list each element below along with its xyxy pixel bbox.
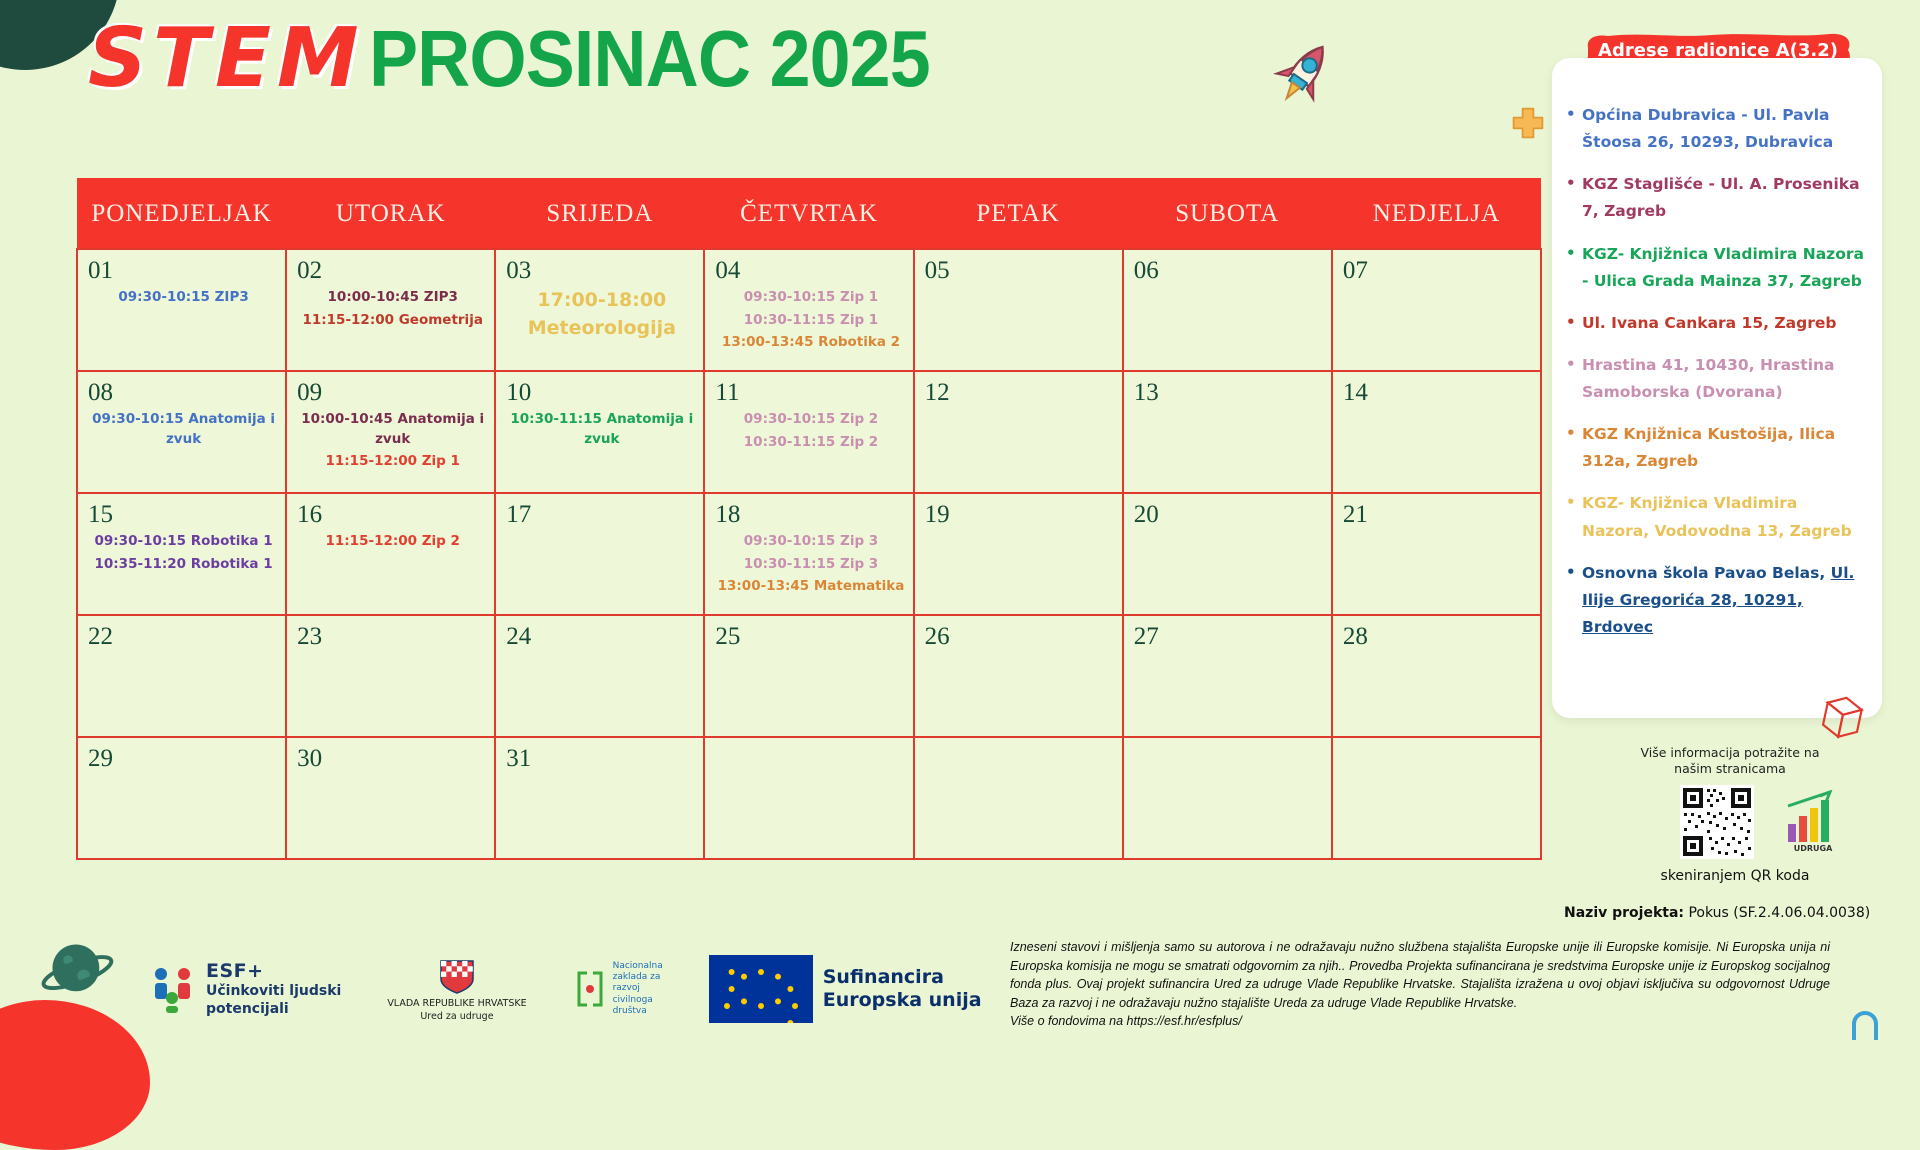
calendar-table: PONEDJELJAK UTORAK SRIJEDA ČETVRTAK PETA… xyxy=(76,178,1542,860)
address-item-text: KGZ- Knjižnica Vladimira Nazora, Vodovod… xyxy=(1582,494,1852,539)
more-info-line1: Više informacija potražite na xyxy=(1620,745,1840,761)
day-number: 03 xyxy=(506,258,697,284)
project-name-label: Naziv projekta: xyxy=(1564,905,1684,921)
address-panel: Općina Dubravica - Ul. Pavla Štoosa 26, … xyxy=(1552,58,1882,718)
day-events: 09:30-10:15 Robotika 110:35-11:20 Roboti… xyxy=(88,532,279,574)
calendar-week-row: 0809:30-10:15 Anatomija i zvuk0910:00-10… xyxy=(77,371,1541,493)
calendar-week-row: 1509:30-10:15 Robotika 110:35-11:20 Robo… xyxy=(77,493,1541,615)
vlada-caption: VLADA REPUBLIKE HRVATSKE Ured za udruge xyxy=(387,998,526,1023)
calendar-day-cell-11[interactable]: 1109:30-10:15 Zip 210:30-11:15 Zip 2 xyxy=(704,371,913,493)
day-number: 09 xyxy=(297,380,488,406)
day-number: 08 xyxy=(88,380,279,406)
weekday-header-thu: ČETVRTAK xyxy=(704,178,913,249)
address-list: Općina Dubravica - Ul. Pavla Štoosa 26, … xyxy=(1566,102,1864,641)
calendar-day-cell-empty[interactable] xyxy=(1332,737,1541,859)
event-entry[interactable]: 09:30-10:15 Zip 3 xyxy=(715,532,906,552)
address-list-item[interactable]: KGZ Staglišće - Ul. A. Prosenika 7, Zagr… xyxy=(1566,171,1864,225)
calendar-day-cell-03[interactable]: 0317:00-18:00Meteorologija xyxy=(495,249,704,371)
calendar-day-cell-02[interactable]: 0210:00-10:45 ZIP311:15-12:00 Geometrija xyxy=(286,249,495,371)
calendar-week-row: 22232425262728 xyxy=(77,615,1541,737)
rocket-icon xyxy=(1265,32,1345,112)
day-number: 01 xyxy=(88,258,279,284)
event-entry[interactable]: 10:00-10:45 Anatomija i zvuk xyxy=(297,410,488,449)
address-item-text: Hrastina 41, 10430, Hrastina Samoborska … xyxy=(1582,356,1835,401)
day-events: 10:00-10:45 ZIP311:15-12:00 Geometrija xyxy=(297,288,488,330)
day-number: 29 xyxy=(88,746,279,772)
logo-vlada-rh: VLADA REPUBLIKE HRVATSKE Ured za udruge xyxy=(387,955,526,1023)
day-number: 05 xyxy=(925,258,1116,284)
event-entry[interactable]: 09:30-10:15 Robotika 1 xyxy=(88,532,279,552)
address-list-item[interactable]: Općina Dubravica - Ul. Pavla Štoosa 26, … xyxy=(1566,102,1864,156)
calendar-header-row: PONEDJELJAK UTORAK SRIJEDA ČETVRTAK PETA… xyxy=(77,178,1541,249)
event-entry[interactable]: 10:30-11:15 Anatomija i zvuk xyxy=(506,410,697,449)
nzcd-line5: društva xyxy=(613,1006,663,1017)
calendar-day-cell-06[interactable]: 06 xyxy=(1123,249,1332,371)
calendar-body: 0109:30-10:15 ZIP30210:00-10:45 ZIP311:1… xyxy=(77,249,1541,859)
nzcd-caption: Nacionalna zaklada za razvoj civilnoga d… xyxy=(613,961,663,1017)
event-entry[interactable]: 13:00-13:45 Robotika 2 xyxy=(715,333,906,353)
nzcd-line3: razvoj xyxy=(613,983,663,994)
calendar-week-row: 293031 xyxy=(77,737,1541,859)
calendar-day-cell-empty[interactable] xyxy=(914,737,1123,859)
magnet-icon xyxy=(1848,1006,1882,1046)
day-number: 17 xyxy=(506,502,697,528)
calendar-day-cell-17[interactable]: 17 xyxy=(495,493,704,615)
weekday-header-fri: PETAK xyxy=(914,178,1123,249)
calendar-day-cell-empty[interactable] xyxy=(704,737,913,859)
calendar-day-cell-26[interactable]: 26 xyxy=(914,615,1123,737)
event-entry[interactable]: 13:00-13:45 Matematika xyxy=(715,577,906,597)
project-name-value: Pokus (SF.2.4.06.04.0038) xyxy=(1688,905,1870,921)
day-number: 10 xyxy=(506,380,697,406)
qr-code-icon[interactable] xyxy=(1680,785,1754,859)
eu-flag-icon xyxy=(709,955,813,1023)
day-events: 09:30-10:15 Zip 310:30-11:15 Zip 313:00-… xyxy=(715,532,906,597)
eu-line1: Sufinancira xyxy=(823,966,982,989)
esf-people-icon xyxy=(150,965,196,1013)
calendar-day-cell-14[interactable]: 14 xyxy=(1332,371,1541,493)
scan-qr-text: skeniranjem QR koda xyxy=(1620,868,1850,884)
day-number: 14 xyxy=(1343,380,1534,406)
event-entry[interactable]: 17:00-18:00 xyxy=(506,288,697,313)
esf-line2: potencijali xyxy=(206,1001,341,1019)
calendar-day-cell-21[interactable]: 21 xyxy=(1332,493,1541,615)
event-entry[interactable]: 10:30-11:15 Zip 1 xyxy=(715,311,906,331)
calendar-day-cell-07[interactable]: 07 xyxy=(1332,249,1541,371)
logo-esf-plus: ESF+ Učinkoviti ljudski potencijali xyxy=(150,960,341,1019)
more-info-line2: našim stranicama xyxy=(1620,761,1840,777)
event-entry[interactable]: 09:30-10:15 Anatomija i zvuk xyxy=(88,410,279,449)
esf-mark: ESF+ xyxy=(206,960,341,984)
event-entry[interactable]: Meteorologija xyxy=(506,316,697,341)
address-list-item[interactable]: Osnovna škola Pavao Belas, Ul. Ilije Gre… xyxy=(1566,560,1864,641)
day-number: 04 xyxy=(715,258,906,284)
event-entry[interactable]: 10:35-11:20 Robotika 1 xyxy=(88,555,279,575)
planet-icon xyxy=(40,932,118,1010)
calendar-day-cell-28[interactable]: 28 xyxy=(1332,615,1541,737)
day-number: 07 xyxy=(1343,258,1534,284)
day-events: 09:30-10:15 Zip 110:30-11:15 Zip 113:00-… xyxy=(715,288,906,353)
day-number: 06 xyxy=(1134,258,1325,284)
weekday-header-sat: SUBOTA xyxy=(1123,178,1332,249)
calendar-week-row: 0109:30-10:15 ZIP30210:00-10:45 ZIP311:1… xyxy=(77,249,1541,371)
address-item-text: KGZ Staglišće - Ul. A. Prosenika 7, Zagr… xyxy=(1582,175,1860,220)
day-events: 09:30-10:15 Anatomija i zvuk xyxy=(88,410,279,449)
address-panel-title: Adrese radionice A(3.2) xyxy=(1582,40,1854,61)
weekday-header-mon: PONEDJELJAK xyxy=(77,178,286,249)
calendar-day-cell-12[interactable]: 12 xyxy=(914,371,1123,493)
day-number: 23 xyxy=(297,624,488,650)
day-number: 11 xyxy=(715,380,906,406)
weekday-header-wed: SRIJEDA xyxy=(495,178,704,249)
address-item-text: Ul. Ivana Cankara 15, Zagreb xyxy=(1582,314,1836,332)
eu-caption: Sufinancira Europska unija xyxy=(823,966,982,1012)
calendar-day-cell-24[interactable]: 24 xyxy=(495,615,704,737)
day-number: 02 xyxy=(297,258,488,284)
calendar-day-cell-01[interactable]: 0109:30-10:15 ZIP3 xyxy=(77,249,286,371)
calendar-day-cell-empty[interactable] xyxy=(1123,737,1332,859)
day-number: 28 xyxy=(1343,624,1534,650)
address-list-item[interactable]: KGZ- Knjižnica Vladimira Nazora - Ulica … xyxy=(1566,241,1864,295)
decorative-blob-bottom-left xyxy=(0,1000,150,1150)
event-entry[interactable]: 09:30-10:15 Zip 2 xyxy=(715,410,906,430)
nzcd-line4: civilnoga xyxy=(613,995,663,1006)
plus-decoration-icon xyxy=(1510,105,1546,141)
day-events: 17:00-18:00Meteorologija xyxy=(506,288,697,340)
event-entry[interactable]: 10:30-11:15 Zip 2 xyxy=(715,433,906,453)
logo-nzcd: Nacionalna zaklada za razvoj civilnoga d… xyxy=(573,961,663,1017)
calendar-day-cell-08[interactable]: 0809:30-10:15 Anatomija i zvuk xyxy=(77,371,286,493)
svg-text:UDRUGA: UDRUGA xyxy=(1794,844,1833,853)
event-entry[interactable]: 11:15-12:00 Geometrija xyxy=(297,311,488,331)
calendar-day-cell-31[interactable]: 31 xyxy=(495,737,704,859)
calendar-day-cell-19[interactable]: 19 xyxy=(914,493,1123,615)
nzcd-line1: Nacionalna xyxy=(613,961,663,972)
page-title: STEM PROSINAC 2025 xyxy=(88,18,978,100)
calendar-day-cell-20[interactable]: 20 xyxy=(1123,493,1332,615)
more-info-text: Više informacija potražite na našim stra… xyxy=(1620,745,1840,776)
calendar-day-cell-30[interactable]: 30 xyxy=(286,737,495,859)
disclaimer-link: Više o fondovima na https://esf.hr/esfpl… xyxy=(1010,1014,1242,1028)
day-events: 10:00-10:45 Anatomija i zvuk11:15-12:00 … xyxy=(297,410,488,472)
day-number: 26 xyxy=(925,624,1116,650)
eu-line2: Europska unija xyxy=(823,989,982,1012)
calendar-day-cell-13[interactable]: 13 xyxy=(1123,371,1332,493)
weekday-header-tue: UTORAK xyxy=(286,178,495,249)
event-entry[interactable]: 10:30-11:15 Zip 3 xyxy=(715,555,906,575)
calendar-day-cell-15[interactable]: 1509:30-10:15 Robotika 110:35-11:20 Robo… xyxy=(77,493,286,615)
event-entry[interactable]: 11:15-12:00 Zip 1 xyxy=(297,452,488,472)
address-list-item[interactable]: Ul. Ivana Cankara 15, Zagreb xyxy=(1566,310,1864,337)
calendar-day-cell-18[interactable]: 1809:30-10:15 Zip 310:30-11:15 Zip 313:0… xyxy=(704,493,913,615)
day-number: 30 xyxy=(297,746,488,772)
month-year-title: PROSINAC 2025 xyxy=(369,19,930,99)
calendar-day-cell-23[interactable]: 23 xyxy=(286,615,495,737)
weekday-header-sun: NEDJELJA xyxy=(1332,178,1541,249)
day-events: 09:30-10:15 ZIP3 xyxy=(88,288,279,308)
address-list-item[interactable]: Hrastina 41, 10430, Hrastina Samoborska … xyxy=(1566,352,1864,406)
esf-text-block: ESF+ Učinkoviti ljudski potencijali xyxy=(206,960,341,1019)
day-number: 25 xyxy=(715,624,906,650)
vlada-line2: Ured za udruge xyxy=(387,1011,526,1023)
day-number: 18 xyxy=(715,502,906,528)
day-events: 11:15-12:00 Zip 2 xyxy=(297,532,488,552)
day-events: 10:30-11:15 Anatomija i zvuk xyxy=(506,410,697,449)
calendar-day-cell-29[interactable]: 29 xyxy=(77,737,286,859)
day-number: 13 xyxy=(1134,380,1325,406)
day-number: 16 xyxy=(297,502,488,528)
address-list-item[interactable]: KGZ- Knjižnica Vladimira Nazora, Vodovod… xyxy=(1566,490,1864,544)
calendar-day-cell-22[interactable]: 22 xyxy=(77,615,286,737)
address-list-item[interactable]: KGZ Knjižnica Kustošija, Ilica 312a, Zag… xyxy=(1566,421,1864,475)
day-number: 21 xyxy=(1343,502,1534,528)
event-entry[interactable]: 10:00-10:45 ZIP3 xyxy=(297,288,488,308)
calendar-day-cell-05[interactable]: 05 xyxy=(914,249,1123,371)
day-number: 24 xyxy=(506,624,697,650)
udruga-logo-icon: UDRUGA xyxy=(1782,790,1844,854)
stem-wordmark: STEM xyxy=(88,18,365,100)
event-entry[interactable]: 09:30-10:15 Zip 1 xyxy=(715,288,906,308)
nzcd-bracket-icon xyxy=(573,969,607,1009)
disclaimer-text: Izneseni stavovi i mišljenja samo su aut… xyxy=(1010,938,1830,1031)
logo-eu: Sufinancira Europska unija xyxy=(709,955,982,1023)
day-number: 19 xyxy=(925,502,1116,528)
calendar-day-cell-27[interactable]: 27 xyxy=(1123,615,1332,737)
day-number: 31 xyxy=(506,746,697,772)
address-item-text: Osnovna škola Pavao Belas, xyxy=(1582,564,1831,582)
nzcd-line2: zaklada za xyxy=(613,972,663,983)
qr-section: UDRUGA xyxy=(1680,785,1844,859)
day-number: 15 xyxy=(88,502,279,528)
calendar-day-cell-25[interactable]: 25 xyxy=(704,615,913,737)
croatian-coat-of-arms-icon xyxy=(438,955,476,995)
esf-line1: Učinkoviti ljudski xyxy=(206,983,341,1001)
address-item-text: Općina Dubravica - Ul. Pavla Štoosa 26, … xyxy=(1582,106,1833,151)
cube-icon xyxy=(1816,690,1868,748)
day-number: 22 xyxy=(88,624,279,650)
vlada-line1: VLADA REPUBLIKE HRVATSKE xyxy=(387,998,526,1010)
day-number: 12 xyxy=(925,380,1116,406)
event-entry[interactable]: 09:30-10:15 ZIP3 xyxy=(88,288,279,308)
footer-logos: ESF+ Učinkoviti ljudski potencijali VLAD… xyxy=(150,955,982,1023)
event-entry[interactable]: 11:15-12:00 Zip 2 xyxy=(297,532,488,552)
calendar-day-cell-04[interactable]: 0409:30-10:15 Zip 110:30-11:15 Zip 113:0… xyxy=(704,249,913,371)
calendar-day-cell-10[interactable]: 1010:30-11:15 Anatomija i zvuk xyxy=(495,371,704,493)
calendar-day-cell-16[interactable]: 1611:15-12:00 Zip 2 xyxy=(286,493,495,615)
project-name: Naziv projekta: Pokus (SF.2.4.06.04.0038… xyxy=(1564,905,1884,921)
disclaimer-body: Izneseni stavovi i mišljenja samo su aut… xyxy=(1010,940,1830,1010)
day-events: 09:30-10:15 Zip 210:30-11:15 Zip 2 xyxy=(715,410,906,452)
calendar-day-cell-09[interactable]: 0910:00-10:45 Anatomija i zvuk11:15-12:0… xyxy=(286,371,495,493)
address-item-text: KGZ Knjižnica Kustošija, Ilica 312a, Zag… xyxy=(1582,425,1835,470)
address-item-text: KGZ- Knjižnica Vladimira Nazora - Ulica … xyxy=(1582,245,1864,290)
day-number: 27 xyxy=(1134,624,1325,650)
day-number: 20 xyxy=(1134,502,1325,528)
